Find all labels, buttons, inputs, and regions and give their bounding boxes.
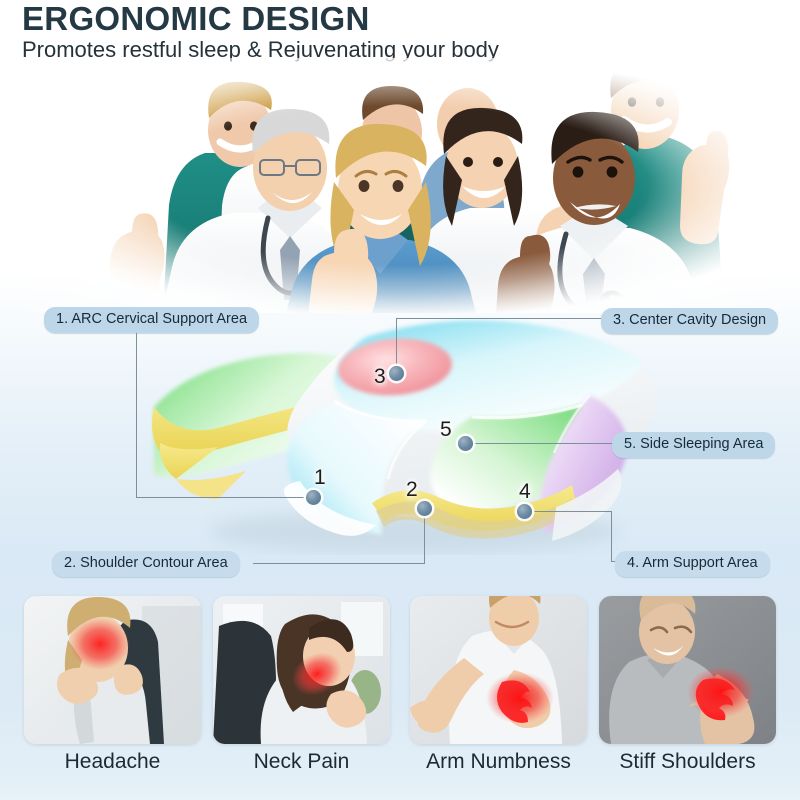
callout-label-1[interactable]: 1. ARC Cervical Support Area: [44, 307, 259, 333]
callout-label-5[interactable]: 5. Side Sleeping Area: [612, 432, 775, 458]
symptom-caption-arm-numbness: Arm Numbness: [410, 746, 587, 778]
leader-line-2-vertical: [424, 509, 425, 564]
symptom-caption-stiff-shoulders: Stiff Shoulders: [599, 746, 776, 778]
symptom-card-row: Headache: [0, 596, 800, 800]
symptom-card-headache[interactable]: [24, 596, 201, 744]
leader-line-2-horizontal: [253, 563, 425, 564]
zone-marker-2[interactable]: [417, 501, 432, 516]
symptom-caption-headache: Headache: [24, 746, 201, 778]
symptom-card-stiff-shoulders[interactable]: [599, 596, 776, 744]
zone-marker-1[interactable]: [306, 490, 321, 505]
zone-marker-4[interactable]: [517, 504, 532, 519]
leader-line-3-horizontal: [396, 318, 603, 319]
callout-label-4[interactable]: 4. Arm Support Area: [615, 551, 770, 577]
leader-line-5-horizontal: [470, 443, 612, 444]
callout-label-3[interactable]: 3. Center Cavity Design: [601, 308, 778, 334]
leader-line-4-vertical: [611, 511, 612, 562]
leader-line-1-vertical: [136, 330, 137, 497]
medical-team-photo: [0, 58, 800, 313]
leader-line-4-horizontal: [527, 511, 612, 512]
symptom-card-arm-numbness[interactable]: [410, 596, 587, 744]
zone-marker-3[interactable]: [389, 366, 404, 381]
zone-number-2: 2: [406, 479, 418, 500]
zone-number-3: 3: [374, 366, 386, 387]
zone-number-5: 5: [440, 419, 452, 440]
page-title: ERGONOMIC DESIGN: [22, 0, 370, 38]
symptom-caption-neck-pain: Neck Pain: [213, 746, 390, 778]
zone-number-4: 4: [519, 481, 531, 502]
zone-marker-5[interactable]: [458, 436, 473, 451]
callout-label-2[interactable]: 2. Shoulder Contour Area: [52, 551, 240, 577]
infographic-page: ERGONOMIC DESIGN Promotes restful sleep …: [0, 0, 800, 800]
symptom-card-neck-pain[interactable]: [213, 596, 390, 744]
leader-line-1-horizontal: [136, 497, 314, 498]
zone-number-1: 1: [314, 467, 326, 488]
